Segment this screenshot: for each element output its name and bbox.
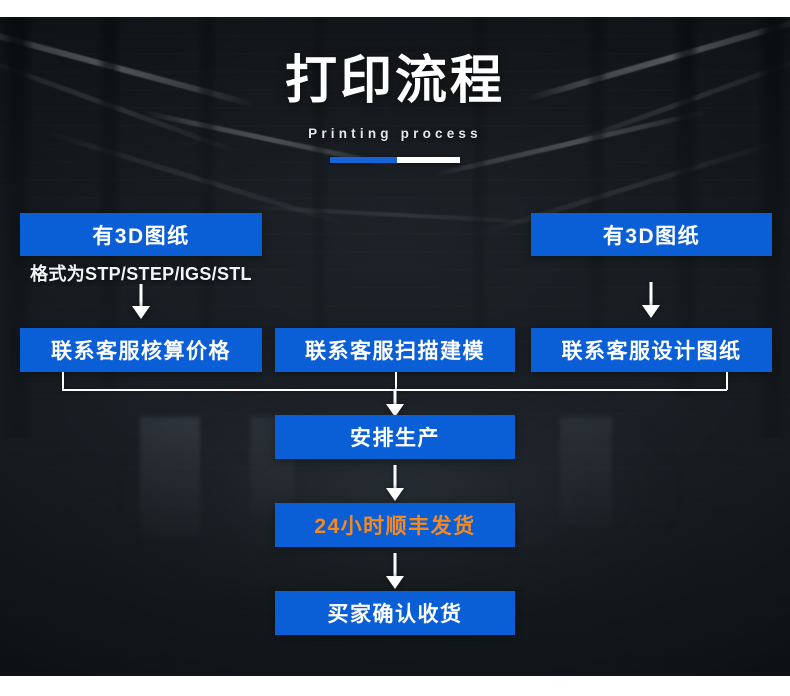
arrow-down-to-confirm [385,553,405,591]
flow-box-quote[interactable]: 联系客服核算价格 [20,328,262,372]
flow-box-shipping[interactable]: 24小时顺丰发货 [275,503,515,547]
flow-box-design[interactable]: 联系客服设计图纸 [531,328,772,372]
flow-box-production[interactable]: 安排生产 [275,415,515,459]
flow-box-confirm[interactable]: 买家确认收货 [275,591,515,635]
flow-box-right-source[interactable]: 有3D图纸 [531,213,772,256]
format-note-text: 格式为STP/STEP/IGS/STL [20,260,262,286]
arrow-down-right-column [641,282,661,320]
process-flowchart: 有3D图纸 有3D图纸 格式为STP/STEP/IGS/STL 联系客服核算价格… [0,0,790,696]
arrow-down-left-column [131,284,151,320]
flow-box-scan[interactable]: 联系客服扫描建模 [275,328,515,372]
flow-box-left-source[interactable]: 有3D图纸 [20,213,262,256]
arrow-down-to-shipping [385,465,405,503]
print-process-banner: 打印流程 Printing process 有3D图纸 有3D图纸 格式为STP… [0,0,790,696]
arrow-down-to-production [385,389,405,415]
